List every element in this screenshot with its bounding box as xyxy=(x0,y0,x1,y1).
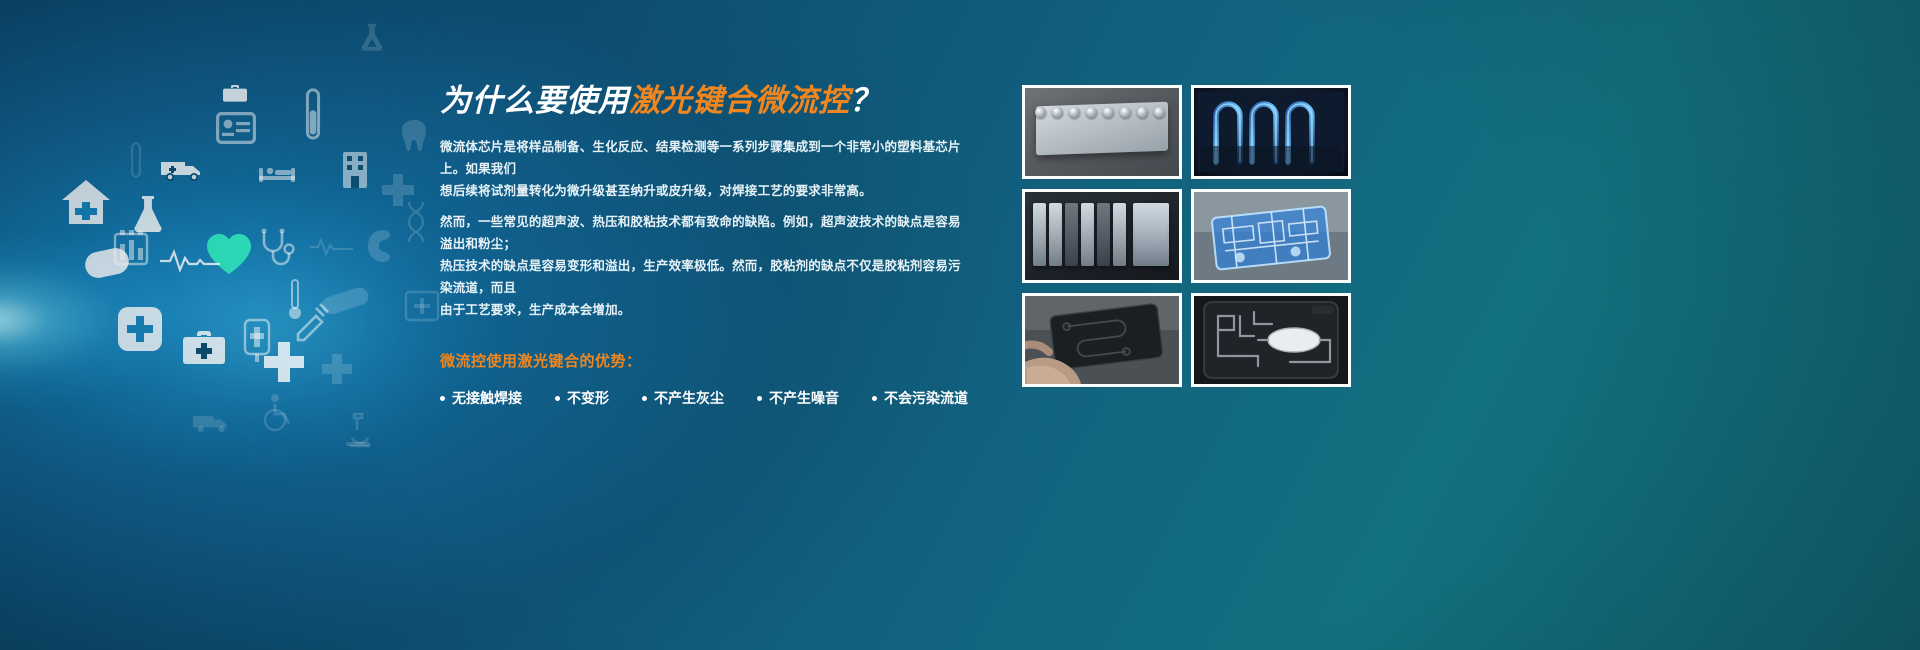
cassette-graphic xyxy=(1194,296,1348,384)
product-gallery: 透明微流控芯片圆孔阵列 xyxy=(1022,85,1351,387)
title-highlight: 激光键合微流控 xyxy=(629,83,850,118)
paragraph-line: 热压技术的缺点是容易变形和溢出，生产效率极低。然而，胶粘剂的缺点不仅是胶粘剂容易… xyxy=(440,255,970,299)
gallery-item-blue-translucent-cartridge[interactable]: 蓝色半透明卡盒 xyxy=(1191,189,1351,283)
first-aid-kit-icon xyxy=(222,85,248,105)
tooth-icon xyxy=(400,118,428,152)
book-medical-icon xyxy=(404,290,440,322)
title-lead: 为什么要使用 xyxy=(440,83,629,118)
advantages-list: 无接触焊接 不变形 不产生灰尘 不产生噪音 不会污染流道 xyxy=(440,388,970,408)
bullet-dot-icon xyxy=(872,396,877,401)
advantage-label: 不产生灰尘 xyxy=(654,388,724,408)
hospital-bed-icon xyxy=(258,160,296,186)
banner-text-column: 为什么要使用激光键合微流控？ 微流体芯片是将样品制备、生化反应、结果检测等一系列… xyxy=(440,84,970,408)
cartridge-graphic xyxy=(1194,192,1348,280)
promo-banner: 为什么要使用激光键合微流控？ 微流体芯片是将样品制备、生化反应、结果检测等一系列… xyxy=(0,0,1920,650)
advantage-label: 不产生噪音 xyxy=(769,388,839,408)
briefcase-medical-icon xyxy=(182,330,226,366)
gallery-item-clear-chip-strip-array[interactable]: 透明条状芯片阵列 xyxy=(1022,189,1182,283)
syringe-icon xyxy=(290,300,332,342)
kidney-icon xyxy=(366,228,400,264)
title-trail: ？ xyxy=(850,83,882,118)
ecg-small-icon xyxy=(310,236,354,256)
medical-cross-icon xyxy=(262,340,306,384)
hand-holding-chip-graphic xyxy=(1025,296,1179,384)
dna-icon xyxy=(404,200,428,244)
advantage-label: 无接触焊接 xyxy=(452,388,522,408)
list-item: 不产生噪音 xyxy=(757,388,839,408)
gallery-item-black-chip-in-hand[interactable]: 手持黑色微流控芯片 xyxy=(1022,293,1182,387)
page-title: 为什么要使用激光键合微流控？ xyxy=(440,84,970,118)
test-tube-icon xyxy=(300,88,326,140)
ecg-line-icon xyxy=(160,248,220,272)
hospital-building-icon xyxy=(340,150,370,190)
gallery-item-microfluidic-chip-round-wells[interactable]: 透明微流控芯片圆孔阵列 xyxy=(1022,85,1182,179)
bullet-dot-icon xyxy=(757,396,762,401)
battery-icon xyxy=(113,228,149,266)
serpentine-channel-graphic xyxy=(1194,88,1348,176)
gallery-item-serpentine-channel-chip[interactable]: 蓝色蛇形流道芯片 xyxy=(1191,85,1351,179)
clipboard-icon xyxy=(216,112,256,144)
cross-shield-icon xyxy=(116,305,164,353)
bullet-dot-icon xyxy=(555,396,560,401)
wheelchair-icon xyxy=(260,392,296,432)
bullet-dot-icon xyxy=(642,396,647,401)
list-item: 不会污染流道 xyxy=(872,388,968,408)
bullet-dot-icon xyxy=(440,396,445,401)
paragraph-line: 然而，一些常见的超声波、热压和胶粘技术都有致命的缺陷。例如，超声波技术的缺点是容… xyxy=(440,211,970,255)
gallery-item-black-cassette-oval-chamber[interactable]: 黑色卡盒椭圆腔体 xyxy=(1191,293,1351,387)
flask-icon xyxy=(355,18,389,58)
plus-small-icon xyxy=(320,352,354,386)
list-item: 无接触焊接 xyxy=(440,388,522,408)
list-item: 不变形 xyxy=(555,388,609,408)
microscope-icon xyxy=(340,410,376,450)
vial-icon xyxy=(126,142,146,178)
ambulance-small-icon xyxy=(192,410,232,436)
paragraph-line: 微流体芯片是将样品制备、生化反应、结果检测等一系列步骤集成到一个非常小的塑料基芯… xyxy=(440,136,970,180)
advantage-label: 不变形 xyxy=(567,388,609,408)
advantage-label: 不会污染流道 xyxy=(884,388,968,408)
stethoscope-icon xyxy=(258,228,298,268)
list-item: 不产生灰尘 xyxy=(642,388,724,408)
house-plus-icon xyxy=(60,178,112,226)
paragraph-line: 想后续将试剂量转化为微升级甚至纳升或皮升级，对焊接工艺的要求非常高。 xyxy=(440,180,970,202)
paragraph-line: 由于工艺要求，生产成本会增加。 xyxy=(440,299,970,321)
body-copy: 微流体芯片是将样品制备、生化反应、结果检测等一系列步骤集成到一个非常小的塑料基芯… xyxy=(440,136,970,321)
ambulance-icon xyxy=(160,155,206,185)
advantages-heading: 微流控使用激光键合的优势： xyxy=(440,350,970,371)
